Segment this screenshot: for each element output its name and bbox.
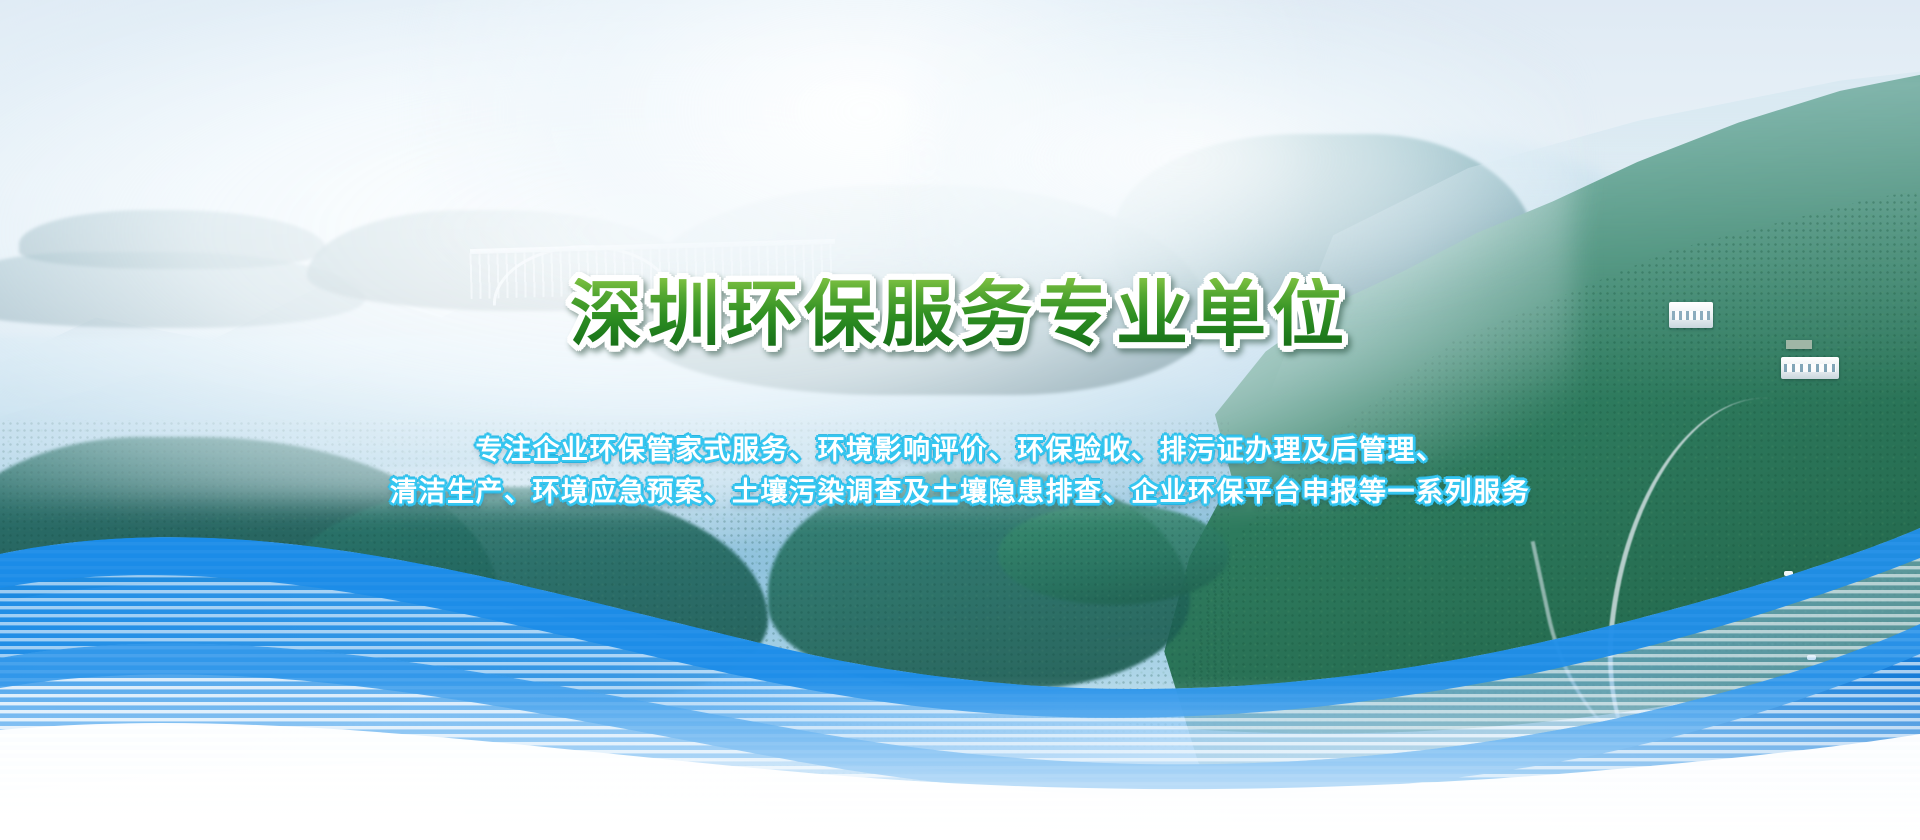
hero-banner: 深圳环保服务专业单位 专注企业环保管家式服务、环境影响评价、环保验收、排污证办理… [0,0,1920,840]
landscape-photo [0,0,1920,840]
hillside-building-lower [1781,357,1839,379]
car-upper [1784,571,1793,576]
car-lower [1807,655,1816,660]
subtitle-line-2: 清洁生产、环境应急预案、土壤污染调查及土壤隐患排查、企业环保平台申报等一系列服务 [0,478,1920,508]
subtitle-line-1: 专注企业环保管家式服务、环境影响评价、环保验收、排污证办理及后管理、 [0,436,1920,466]
page-title: 深圳环保服务专业单位 [0,278,1920,350]
fog-layer-tertiary [922,17,1575,303]
